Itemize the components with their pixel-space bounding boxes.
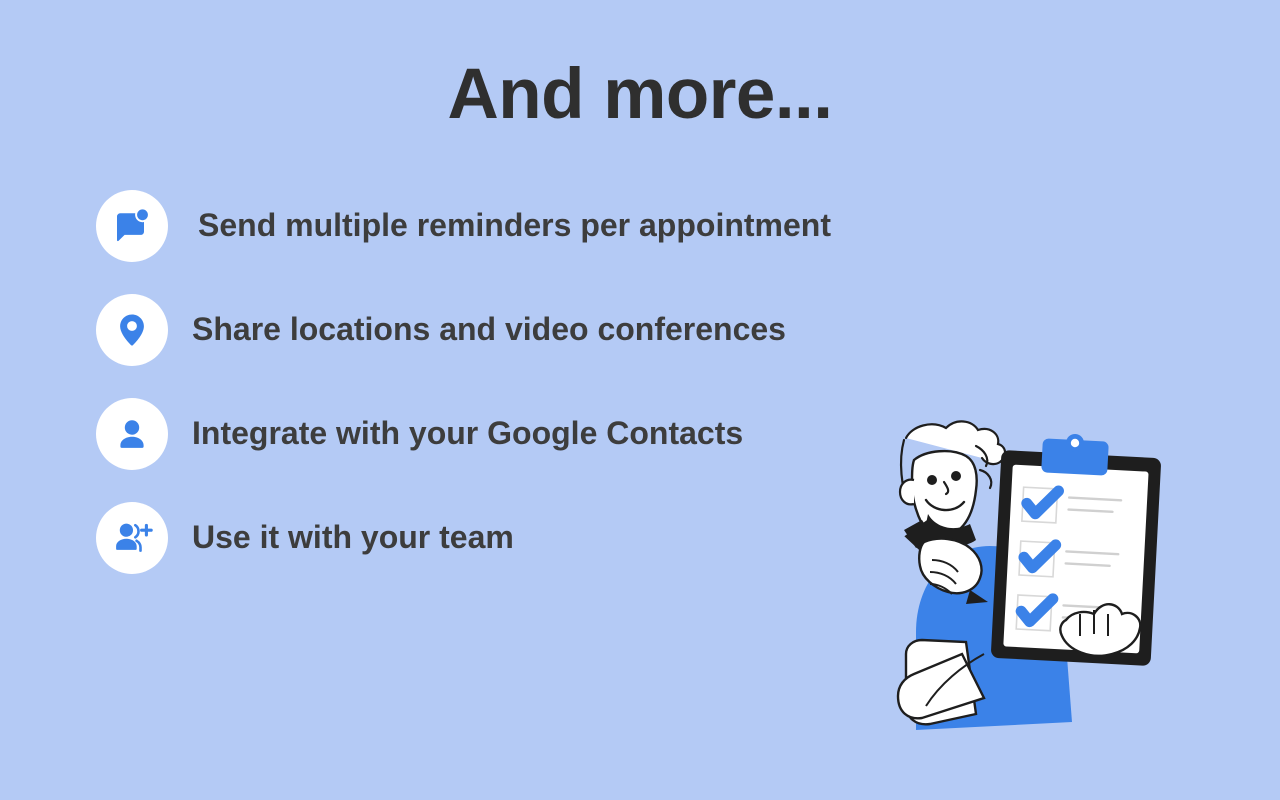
person-holding-checklist-clipboard-illustration <box>828 418 1180 738</box>
eye-right <box>951 471 961 481</box>
person-add-icon <box>96 502 168 574</box>
feature-item-label: Send multiple reminders per appointment <box>198 208 831 243</box>
feature-item-label: Share locations and video conferences <box>192 312 786 347</box>
person-icon <box>96 398 168 470</box>
feature-item-reminders: Send multiple reminders per appointment <box>96 186 996 266</box>
chat-bubble-notification-icon <box>96 190 168 262</box>
feature-item-label: Integrate with your Google Contacts <box>192 416 743 451</box>
slide-canvas: And more... Send multiple reminders per … <box>0 0 1280 800</box>
location-pin-icon <box>96 294 168 366</box>
page-title: And more... <box>0 58 1280 133</box>
eye-left <box>927 475 937 485</box>
feature-item-locations: Share locations and video conferences <box>96 290 996 370</box>
feature-item-label: Use it with your team <box>192 520 514 555</box>
